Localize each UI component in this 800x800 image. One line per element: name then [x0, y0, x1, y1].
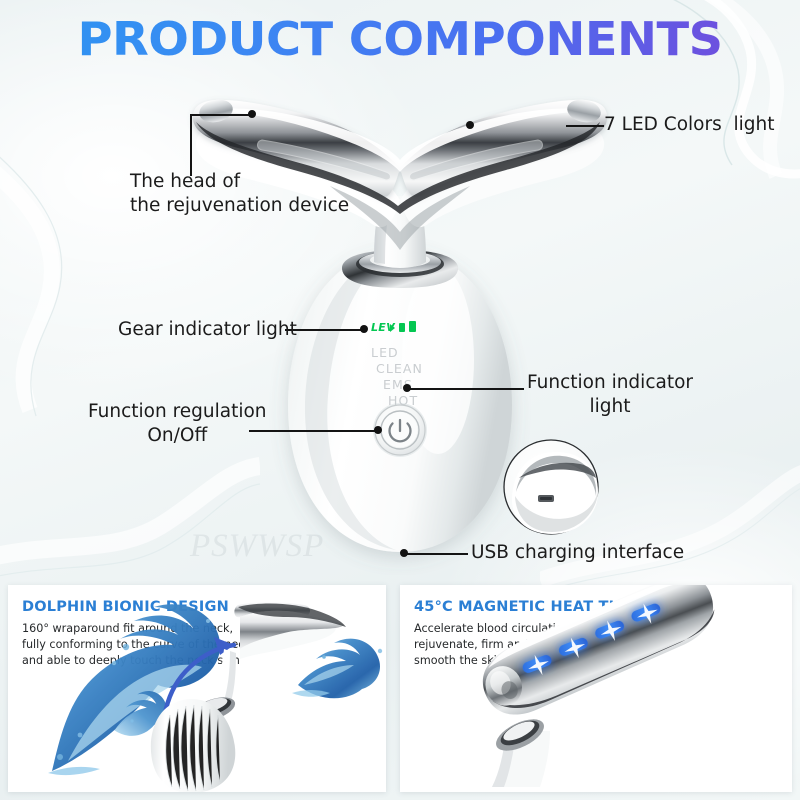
leader-dot-function — [403, 384, 411, 392]
level-bar-1 — [399, 323, 405, 332]
panel-dolphin-bionic-design: DOLPHIN BIONIC DESIGN 160° wraparound fi… — [8, 585, 386, 792]
leader-usb-line — [404, 553, 468, 555]
leader-dot-led — [466, 121, 474, 129]
page-title: PRODUCT COMPONENTS — [0, 16, 800, 62]
leader-function-line — [406, 388, 524, 390]
device-illustration — [0, 0, 800, 575]
leader-led-line — [566, 125, 604, 127]
function-label-clean: CLEAN — [376, 361, 423, 376]
level-bar-2 — [409, 321, 416, 332]
leader-dot-head — [248, 110, 256, 118]
callout-usb-charging: USB charging interface — [471, 541, 684, 565]
callout-function-regulation: Function regulation On/Off — [88, 400, 267, 447]
leader-regulation-line — [249, 430, 378, 432]
leader-gear-line — [285, 329, 365, 331]
watermark: PSWWSP — [190, 528, 324, 565]
callout-function-indicator: Function indicator light — [527, 371, 693, 418]
callout-led-colors: 7 LED Colors light — [604, 113, 774, 137]
leader-dot-gear — [360, 325, 368, 333]
function-label-led: LED — [371, 345, 399, 360]
level-triangle-icon — [390, 324, 395, 332]
leader-head-horizontal — [190, 114, 252, 116]
leader-dot-usb — [400, 549, 408, 557]
function-label-hot: HOT — [388, 393, 418, 408]
leader-dot-regulation — [374, 426, 382, 434]
silk-wave-left — [0, 120, 170, 420]
leader-head-vertical — [190, 114, 192, 176]
silk-wave-bottom-right — [540, 430, 800, 590]
silk-wave-bottom-left — [0, 430, 260, 600]
callout-device-head: The head of the rejuvenation device — [130, 170, 349, 217]
panel-magnetic-heat-therapy: 45°C MAGNETIC HEAT THERAPY Accelerate bl… — [400, 585, 792, 792]
product-components-infographic: PRODUCT COMPONENTS — [0, 0, 800, 800]
callout-gear-indicator: Gear indicator light — [118, 318, 297, 342]
dolphin-illustration — [8, 585, 386, 792]
heat-therapy-illustration — [400, 585, 792, 792]
